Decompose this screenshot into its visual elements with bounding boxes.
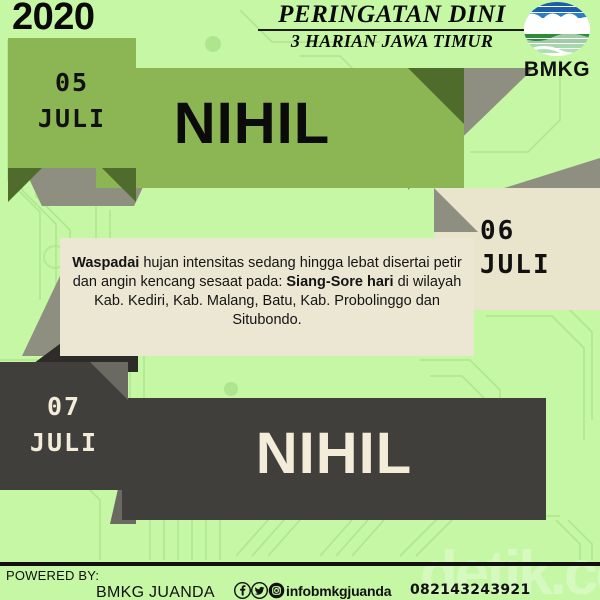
year-label: 2020 [12, 0, 95, 39]
peringatan-dini-poster: 2020 PERINGATAN DINI 3 HARIAN JAWA TIMUR [0, 0, 600, 600]
warning-emphasis: Waspadai [72, 255, 139, 271]
header-title-line2: 3 HARIAN JAWA TIMUR [258, 32, 526, 51]
twitter-icon[interactable] [251, 582, 268, 599]
instagram-icon[interactable] [268, 582, 285, 599]
whatsapp-phone: 082143243921 [410, 582, 531, 598]
agency-label: BMKG JUANDA [96, 584, 215, 600]
day-card-07: 07 JULI [0, 362, 128, 490]
warning-message-text: Waspadai hujan intensitas sedang hingga … [60, 254, 474, 330]
facebook-icon[interactable] [234, 582, 251, 599]
warning-message-box: Waspadai hujan intensitas sedang hingga … [60, 238, 474, 356]
day-card-07-month: JULI [0, 428, 128, 457]
status-banner-05-text: NIHIL [96, 90, 408, 157]
warning-emphasis: Siang-Sore hari [286, 274, 393, 290]
bmkg-logo-text: BMKG [516, 58, 598, 82]
day-card-05-day: 05 [8, 68, 136, 97]
header-title-line1: PERINGATAN DINI [258, 2, 526, 28]
bmkg-logo [521, 1, 593, 57]
day-card-05-month: JULI [8, 104, 136, 133]
status-banner-07: NIHIL [122, 398, 546, 520]
status-banner-07-text: NIHIL [122, 420, 546, 487]
social-handle-text: infobmkgjuanda [286, 583, 391, 599]
powered-by-label: POWERED BY: [6, 568, 99, 583]
poster-header: PERINGATAN DINI 3 HARIAN JAWA TIMUR [258, 2, 526, 50]
whatsapp-contact: 082143243921 [408, 582, 531, 598]
day-card-06-day: 06 [480, 216, 515, 246]
day-card-06-month: JULI [480, 250, 551, 280]
status-banner-05: NIHIL [96, 68, 464, 188]
day-card-07-day: 07 [0, 392, 128, 421]
day-card-05: 05 JULI [8, 38, 136, 168]
poster-footer: POWERED BY: BMKG JUANDA infobmkgjuanda [0, 566, 600, 600]
social-handles: infobmkgjuanda [234, 582, 391, 599]
